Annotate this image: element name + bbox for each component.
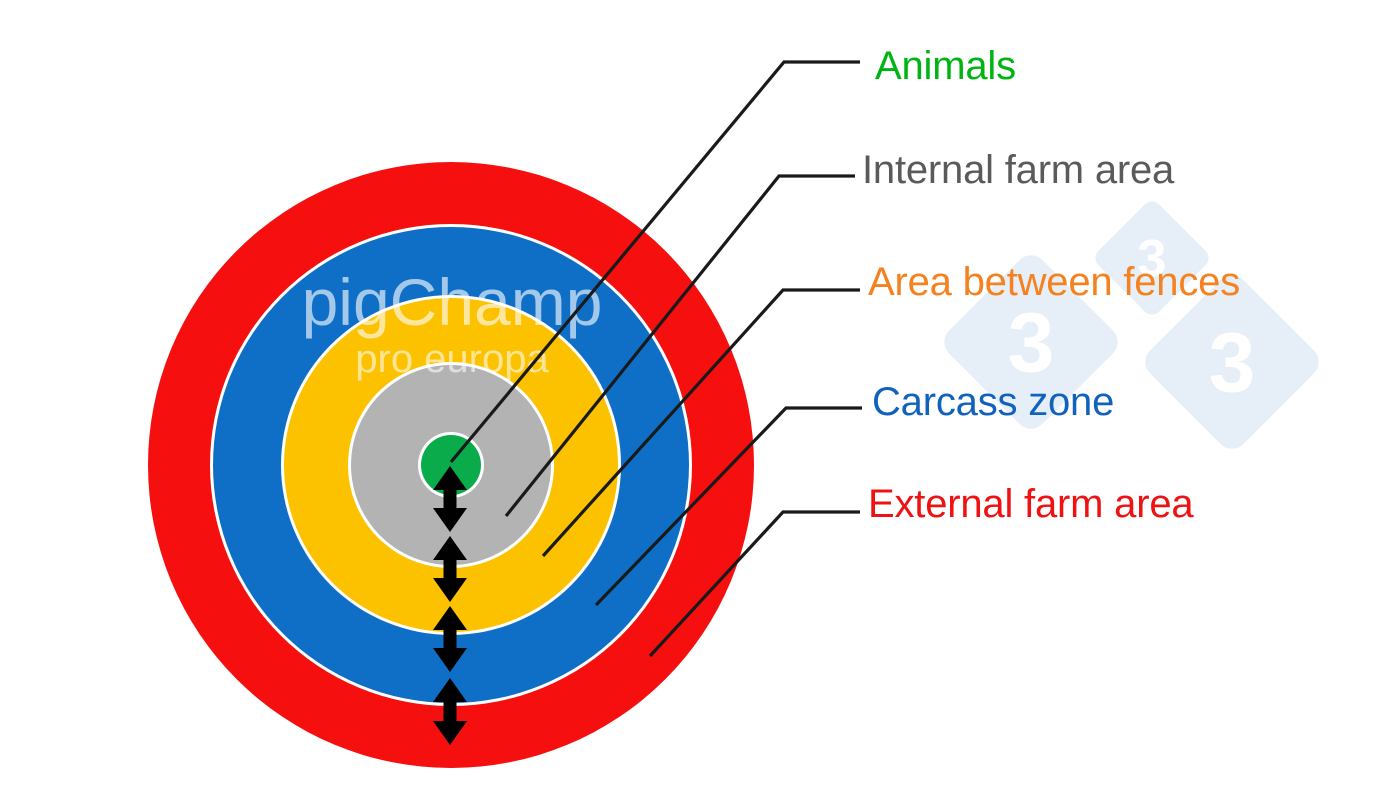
legend-label-external-farm-area: External farm area [868,484,1193,524]
watermark-333-digit: 3 [1209,315,1256,409]
concentric-rings [145,159,757,771]
biosecurity-zones-diagram: 333 pigChamp pro europa [0,0,1400,788]
watermark-333-digit: 3 [1008,295,1055,389]
watermark-pigchamp-line2: pro europa [355,337,549,381]
diagram-canvas: 333 pigChamp pro europa AnimalsInternal … [0,0,1400,788]
legend-label-area-between-fences: Area between fences [868,262,1240,302]
legend-label-carcass-zone: Carcass zone [872,382,1114,422]
legend-label-internal-farm-area: Internal farm area [862,150,1174,190]
watermark-pigchamp-line1: pigChamp [302,265,603,339]
legend-label-animals: Animals [875,46,1016,86]
